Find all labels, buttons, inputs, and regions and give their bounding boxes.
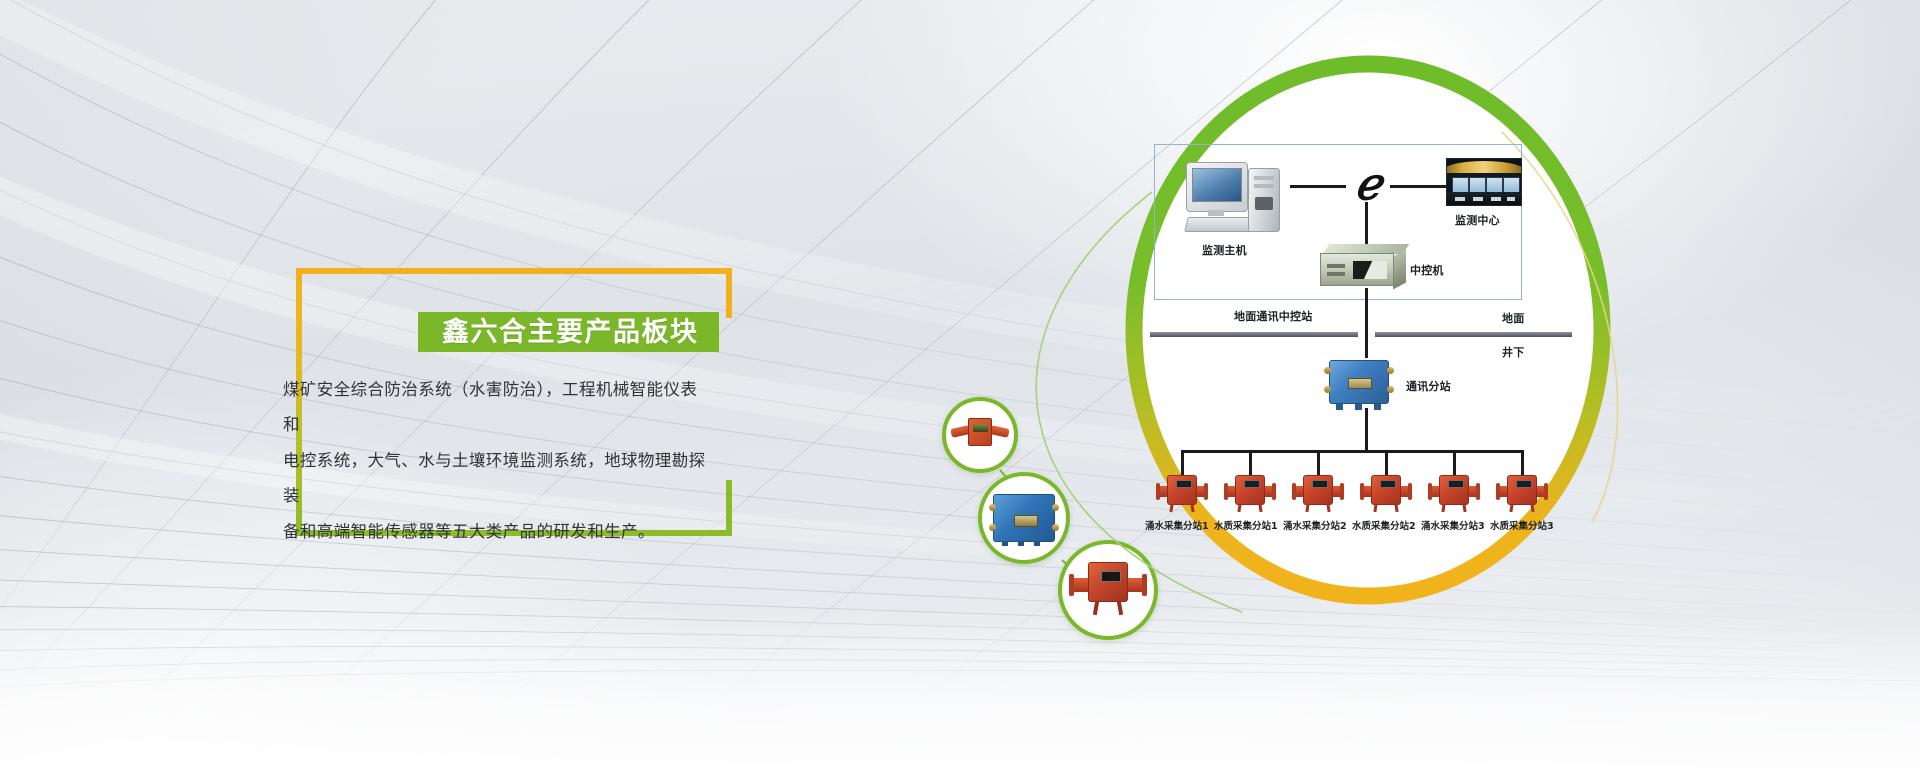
label-collector-5: 涌水采集分站3 — [1421, 518, 1485, 532]
intro-line-3: 备和高端智能传感器等五大类产品的研发和生产。 — [283, 514, 708, 549]
product-bubble-junction-box[interactable] — [978, 472, 1070, 564]
mine-water-monitoring-diagram: 监测主机 ℯ 监测中心 中控机 地面通讯中控站 — [1150, 140, 1590, 540]
control-room-photo-icon — [1446, 158, 1522, 206]
product-intro-panel: 鑫六合主要产品板块 煤矿安全综合防治系统（水害防治），工程机械智能仪表和 电控系… — [296, 268, 732, 536]
red-flow-meter-icon — [1496, 473, 1548, 513]
frame-border-right-top — [726, 268, 732, 318]
page-title: 鑫六合主要产品板块 — [442, 319, 699, 346]
ground-divider-right — [1375, 332, 1572, 337]
intro-line-2: 电控系统，大气、水与土壤环境监测系统，地球物理勘探装 — [283, 443, 708, 514]
frame-border-top — [296, 268, 732, 274]
label-underground-zone: 井下 — [1502, 344, 1524, 360]
label-collector-6: 水质采集分站3 — [1490, 518, 1554, 532]
ground-divider-left — [1150, 332, 1358, 337]
label-collector-4: 水质采集分站2 — [1352, 518, 1416, 532]
label-collector-3: 涌水采集分站2 — [1283, 518, 1347, 532]
red-flow-meter-icon — [1428, 473, 1480, 513]
wire-substation-to-bus — [1365, 408, 1368, 452]
desktop-computer-icon — [1186, 162, 1282, 236]
red-flow-meter-icon — [1156, 473, 1208, 513]
red-sensor-with-arms-icon — [951, 418, 1009, 452]
wire-horizontal-bus — [1181, 450, 1523, 453]
intro-line-1: 煤矿安全综合防治系统（水害防治），工程机械智能仪表和 — [283, 372, 708, 443]
wire-rack-to-substation — [1365, 288, 1368, 358]
section-title-banner: 鑫六合主要产品板块 — [418, 312, 719, 352]
label-surface-zone: 地面 — [1502, 310, 1524, 326]
wire-host-to-hub — [1290, 185, 1346, 188]
banner-stage: 鑫六合主要产品板块 煤矿安全综合防治系统（水害防治），工程机械智能仪表和 电控系… — [0, 0, 1920, 780]
red-flow-meter-icon — [1292, 473, 1344, 513]
label-surface-control-station: 地面通讯中控站 — [1234, 308, 1312, 324]
wire-hub-to-rack — [1365, 202, 1368, 246]
label-comm-substation: 通讯分站 — [1406, 378, 1451, 394]
label-collector-1: 涌水采集分站1 — [1145, 518, 1209, 532]
rack-server-icon — [1320, 244, 1406, 288]
label-central-controller: 中控机 — [1410, 262, 1444, 278]
frame-border-right-bottom — [726, 480, 732, 536]
blue-junction-box-icon — [993, 494, 1055, 542]
red-flow-meter-icon — [1360, 473, 1412, 513]
product-bubble-sensor-arm[interactable] — [942, 397, 1018, 473]
blue-junction-box-icon — [1322, 358, 1396, 410]
background-bottom-fade — [0, 610, 1920, 780]
label-collector-2: 水质采集分站1 — [1214, 518, 1278, 532]
intro-paragraph: 煤矿安全综合防治系统（水害防治），工程机械智能仪表和 电控系统，大气、水与土壤环… — [283, 372, 708, 549]
label-monitor-center: 监测中心 — [1455, 212, 1500, 228]
e-network-logo-icon: ℯ — [1346, 164, 1390, 208]
wire-hub-to-center — [1390, 185, 1448, 188]
label-monitor-host: 监测主机 — [1202, 242, 1247, 258]
red-flow-meter-icon — [1224, 473, 1276, 513]
